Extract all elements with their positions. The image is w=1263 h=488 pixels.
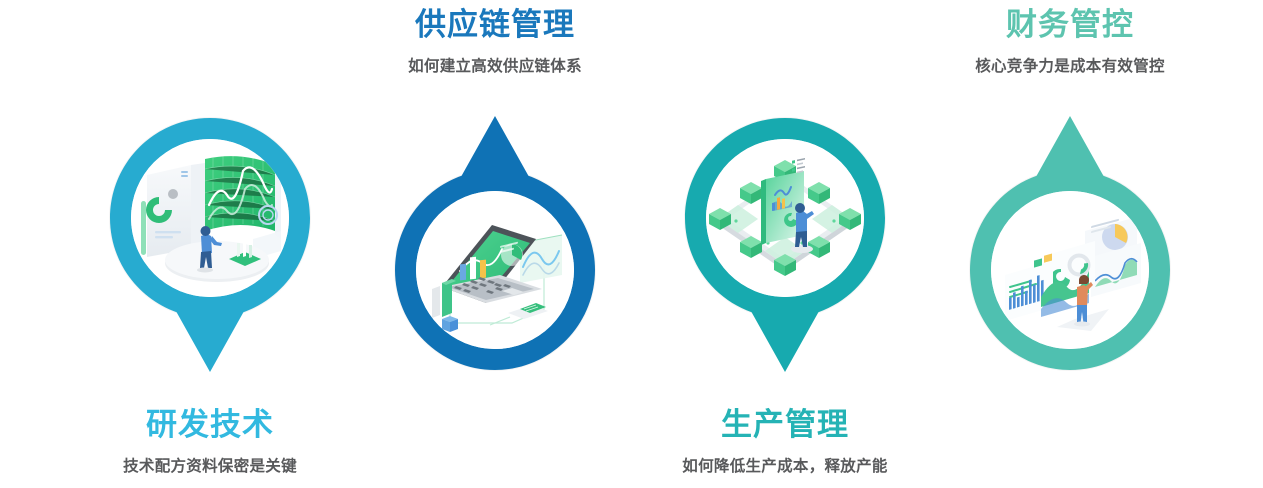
infographic-container: 研发技术 技术配方资料保密是关键 bbox=[0, 0, 1263, 488]
infographic-item-financial-control[interactable]: 财务管控 核心竞争力是成本有效管控 bbox=[920, 0, 1220, 488]
infographic-item-rd-technology[interactable]: 研发技术 技术配方资料保密是关键 bbox=[60, 0, 360, 488]
illustration-research-screens bbox=[131, 139, 289, 297]
caption-supply-chain-management: 供应链管理 如何建立高效供应链体系 bbox=[345, 6, 645, 76]
item-title: 生产管理 bbox=[635, 406, 935, 445]
item-title: 财务管控 bbox=[920, 6, 1220, 45]
illustration-laptop-analytics bbox=[416, 191, 574, 349]
map-pin-supply-chain-management[interactable] bbox=[391, 112, 599, 374]
illustration-dashboard-charts bbox=[991, 191, 1149, 349]
item-subtitle: 核心竞争力是成本有效管控 bbox=[920, 54, 1220, 76]
map-pin-production-management[interactable] bbox=[681, 114, 889, 376]
caption-rd-technology: 研发技术 技术配方资料保密是关键 bbox=[60, 406, 360, 476]
infographic-item-supply-chain-management[interactable]: 供应链管理 如何建立高效供应链体系 bbox=[345, 0, 645, 488]
caption-financial-control: 财务管控 核心竞争力是成本有效管控 bbox=[920, 6, 1220, 76]
map-pin-financial-control[interactable] bbox=[966, 112, 1174, 374]
map-pin-rd-technology[interactable] bbox=[106, 114, 314, 376]
item-subtitle: 技术配方资料保密是关键 bbox=[60, 454, 360, 476]
illustration-isometric-platform-cubes bbox=[706, 139, 864, 297]
item-subtitle: 如何建立高效供应链体系 bbox=[345, 54, 645, 76]
item-title: 供应链管理 bbox=[345, 6, 645, 45]
infographic-item-production-management[interactable]: 生产管理 如何降低生产成本，释放产能 bbox=[635, 0, 935, 488]
item-subtitle: 如何降低生产成本，释放产能 bbox=[635, 454, 935, 476]
item-title: 研发技术 bbox=[60, 406, 360, 445]
caption-production-management: 生产管理 如何降低生产成本，释放产能 bbox=[635, 406, 935, 476]
